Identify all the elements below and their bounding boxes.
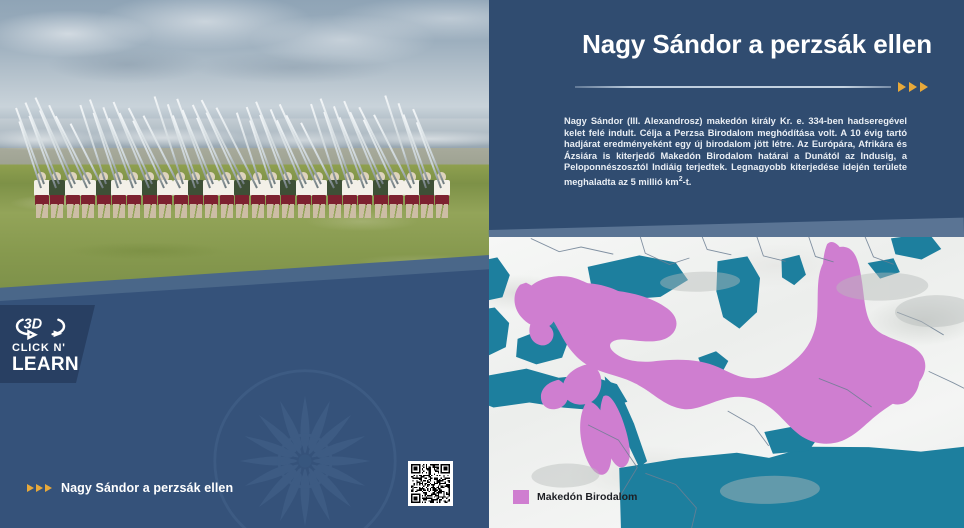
phalanx-photo: [0, 0, 489, 296]
qr-code-icon: [411, 464, 450, 503]
map-legend-label: Makedón Birodalom: [537, 491, 637, 503]
map-vector-layer: [489, 237, 964, 528]
footer-title: Nagy Sándor a perzsák ellen: [61, 481, 233, 495]
title-block: Nagy Sándor a perzsák ellen Nagy Sándor …: [489, 0, 964, 246]
map-panel[interactable]: Makedón Birodalom: [489, 237, 964, 528]
3d-badge-line2: LEARN: [12, 355, 79, 374]
map-legend-swatch: [513, 490, 529, 504]
map-legend: Makedón Birodalom: [513, 490, 637, 504]
title-divider: [575, 86, 891, 88]
3d-rotate-icon: 3D: [12, 311, 70, 341]
slide-root: 3D CLICK N' LEARN Nagy Sándor a perzsák …: [0, 0, 964, 528]
page-title: Nagy Sándor a perzsák ellen: [582, 29, 932, 60]
footer-arrows-icon: [27, 484, 52, 492]
title-arrows-icon: [898, 82, 928, 92]
qr-code[interactable]: [408, 461, 453, 506]
map-image: [489, 237, 964, 528]
body-paragraph-tail: -t.: [683, 177, 692, 187]
footer-bar: Nagy Sándor a perzsák ellen: [27, 481, 233, 495]
phalanx-formation: [34, 78, 454, 218]
3d-badge-line1: CLICK N': [12, 343, 66, 354]
body-paragraph: Nagy Sándor (III. Alexandrosz) makedón k…: [564, 116, 907, 189]
3d-mark-text: 3D: [24, 316, 43, 332]
body-paragraph-text: Nagy Sándor (III. Alexandrosz) makedón k…: [564, 116, 907, 187]
phalanx-photo-image: [0, 0, 489, 296]
